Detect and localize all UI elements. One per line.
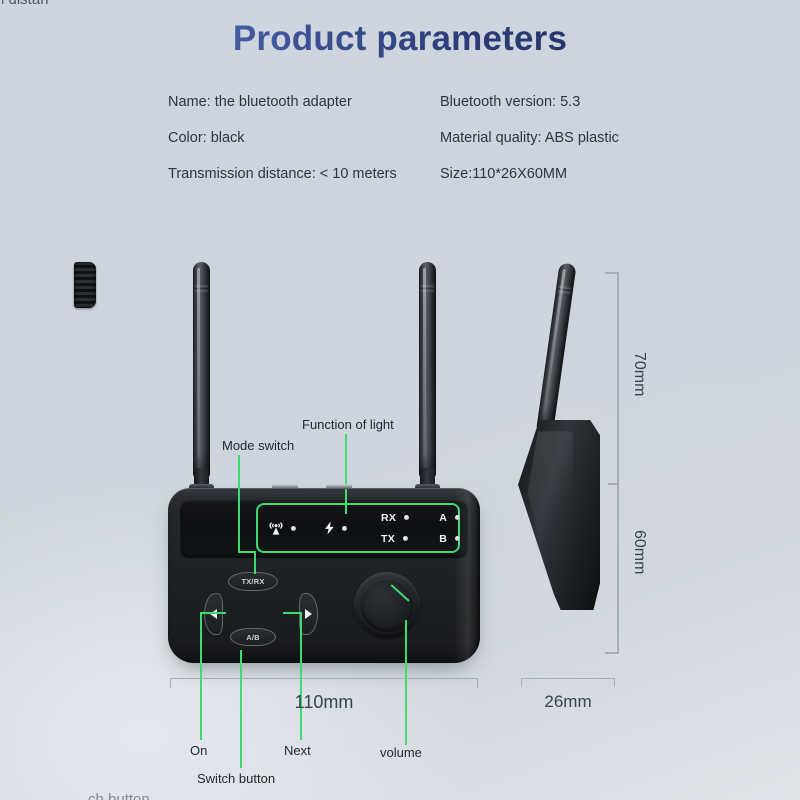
indicator-highlight-box: RX TX A B [256, 503, 460, 553]
b-label: B [439, 533, 447, 545]
top-port-right [326, 484, 352, 489]
indicator-tx: TX [381, 533, 409, 545]
dimension-bracket-depth [521, 678, 615, 687]
led-rx [404, 515, 409, 520]
signal-tower-icon [268, 521, 284, 536]
parameter-name: Name: the bluetooth adapter [168, 94, 352, 110]
ab-button[interactable]: A/B [230, 628, 276, 646]
bleed-text-bottom: ch button [88, 791, 150, 800]
device-side-view [518, 262, 638, 674]
callout-volume: volume [380, 745, 422, 760]
device-front-view: RX TX A B [168, 262, 480, 672]
device-body: RX TX A B [168, 488, 480, 663]
previous-button[interactable] [204, 593, 223, 635]
device-side-body [518, 420, 600, 610]
antenna-rod [419, 262, 436, 477]
leader-function-of-light [345, 434, 347, 514]
antenna-rod [193, 262, 210, 477]
led-signal [291, 526, 296, 531]
dimension-label-70mm: 70mm [630, 352, 648, 396]
indicator-signal [268, 521, 296, 536]
leader-mode-switch-upper [238, 455, 240, 488]
rx-label: RX [381, 512, 396, 524]
dimension-label-60mm: 60mm [630, 530, 648, 574]
side-volume-knob [74, 262, 96, 308]
antenna-rod [536, 262, 576, 431]
leader-mode-switch-tip [254, 551, 256, 574]
leader-next-elbow [283, 612, 302, 614]
tx-label: TX [381, 533, 395, 545]
led-power [342, 526, 347, 531]
display-panel: RX TX A B [180, 500, 468, 558]
callout-mode-switch: Mode switch [222, 438, 294, 453]
parameter-color: Color: black [168, 130, 245, 146]
right-arrow-icon [305, 609, 312, 619]
indicator-a-b: A B [439, 512, 460, 545]
antenna-left [193, 262, 210, 494]
dimension-bracket-width [170, 678, 478, 688]
bleed-text-top: n distan [0, 0, 49, 8]
parameter-size: Size:110*26X60MM [440, 166, 567, 182]
dimension-line-70mm [617, 272, 619, 484]
antenna-side [536, 262, 576, 433]
leader-mode-switch-lower [238, 486, 240, 552]
infographic-page: n distan ch button Product parameters Na… [0, 0, 800, 800]
parameter-list: Name: the bluetooth adapter Bluetooth ve… [168, 93, 668, 201]
indicator-a: A [439, 512, 460, 524]
callout-switch-button: Switch button [197, 771, 275, 786]
callout-on: On [190, 743, 207, 758]
page-title: Product parameters [0, 19, 800, 59]
a-label: A [439, 512, 447, 524]
led-b [455, 536, 460, 541]
left-arrow-icon [210, 609, 217, 619]
side-body-shape [518, 420, 600, 610]
dimension-label-26mm: 26mm [508, 692, 628, 712]
parameter-row: Color: black Material quality: ABS plast… [168, 129, 668, 147]
indicator-rx-tx: RX TX [381, 512, 409, 545]
leader-on-vertical [200, 612, 202, 740]
dimension-label-110mm: 110mm [170, 692, 478, 713]
indicator-b: B [439, 533, 460, 545]
parameter-distance: Transmission distance: < 10 meters [168, 166, 397, 182]
dimension-tick-60-bottom [605, 652, 619, 654]
volume-knob[interactable] [354, 572, 420, 638]
parameter-bluetooth-version: Bluetooth version: 5.3 [440, 94, 580, 110]
led-tx [403, 536, 408, 541]
leader-on-elbow [200, 612, 226, 614]
parameter-row: Name: the bluetooth adapter Bluetooth ve… [168, 93, 668, 111]
dimension-tick-70-top [605, 272, 619, 274]
parameter-material: Material quality: ABS plastic [440, 130, 619, 146]
dimension-line-60mm [617, 483, 619, 653]
txrx-button[interactable]: TX/RX [228, 572, 278, 591]
callout-next: Next [284, 743, 311, 758]
indicator-rx: RX [381, 512, 409, 524]
parameter-row: Transmission distance: < 10 meters Size:… [168, 165, 668, 183]
callout-function-of-light: Function of light [302, 417, 394, 432]
lightning-bolt-icon [324, 521, 335, 535]
led-a [455, 515, 460, 520]
indicator-power [324, 521, 347, 535]
antenna-right [419, 262, 436, 494]
top-port-left [272, 484, 298, 489]
leader-next-vertical [300, 612, 302, 740]
